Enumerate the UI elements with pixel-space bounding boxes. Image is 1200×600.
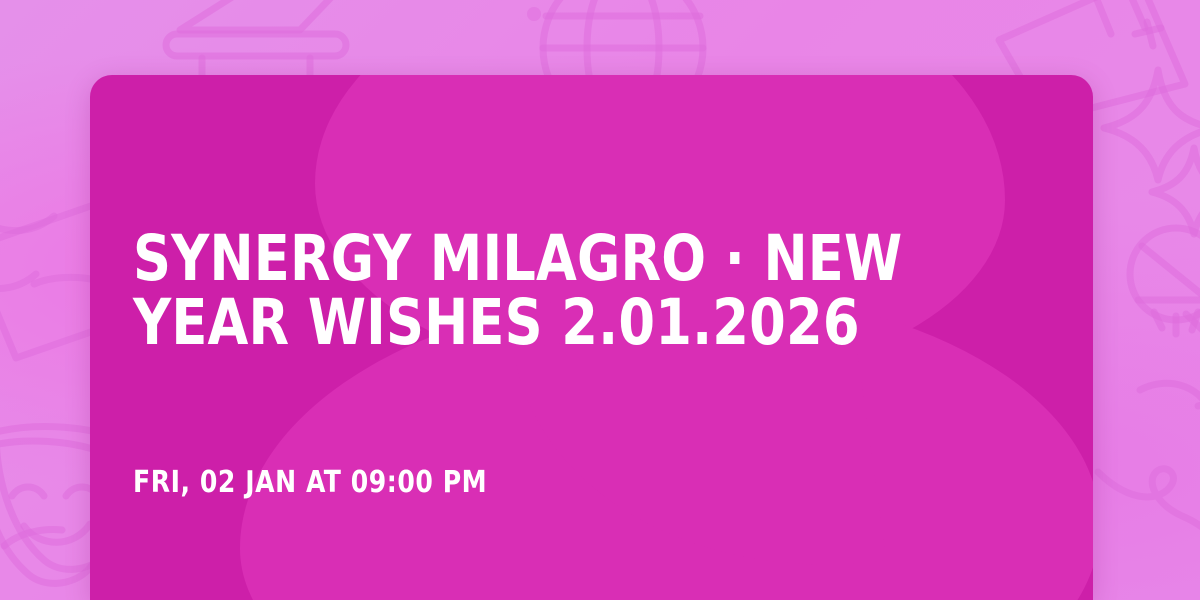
- confetti-streak-icon: [0, 520, 80, 560]
- event-date: Fri, 02 Jan at 09:00 PM: [133, 465, 487, 500]
- sparkle-icon: [1150, 140, 1200, 240]
- balloon-string-icon: [1078, 384, 1200, 600]
- event-card[interactable]: Synergy Milagro · New Year Wishes 2.01.2…: [90, 75, 1093, 600]
- card-content: Synergy Milagro · New Year Wishes 2.01.2…: [133, 75, 1053, 600]
- event-title: Synergy Milagro · New Year Wishes 2.01.2…: [133, 227, 951, 354]
- event-banner: Synergy Milagro · New Year Wishes 2.01.2…: [0, 0, 1200, 600]
- confetti-dot-icon: [520, 0, 550, 30]
